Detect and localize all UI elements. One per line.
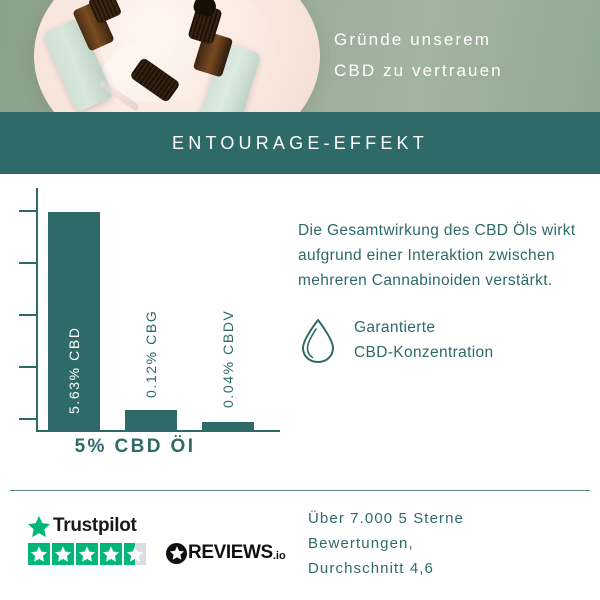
hero-headline-line-2: CBD zu vertrauen: [334, 55, 584, 86]
main-content: 5.63% CBD 0.12% CBG 0.04% CBDV 5% CBD ÖI…: [0, 174, 600, 480]
guarantee-line-2: CBD-Konzentration: [354, 340, 494, 365]
cannabinoid-bar-chart: 5.63% CBD 0.12% CBG 0.04% CBDV 5% CBD ÖI: [0, 174, 290, 480]
reviewsio-tld: .io: [273, 550, 286, 562]
bar-label-cbdv: 0.04% CBDV: [220, 310, 236, 408]
bar-cbg: [125, 410, 177, 430]
y-axis-tick: [19, 418, 37, 420]
reviews-summary-line-1: Über 7.000 5 Sterne: [308, 506, 588, 531]
y-axis-tick: [19, 210, 37, 212]
cbd-oil-bottles-photo: [0, 0, 330, 112]
bar-label-cbg: 0.12% CBG: [143, 310, 159, 398]
trustpilot-wordmark: Trustpilot: [28, 514, 148, 538]
droplet-icon: [298, 317, 338, 363]
footer-divider: [10, 490, 590, 491]
chart-x-axis-label: 5% CBD ÖI: [0, 436, 270, 458]
hero-headline: Gründe unserem CBD zu vertrauen: [334, 24, 584, 86]
reviewsio-widget[interactable]: REVIEWS .io: [166, 542, 286, 564]
guarantee-block: Garantierte CBD-Konzentration: [298, 315, 590, 365]
footer-section: Trustpilot: [0, 492, 600, 600]
y-axis-tick: [19, 262, 37, 264]
chart-bars: 5.63% CBD 0.12% CBG 0.04% CBDV: [38, 188, 280, 430]
y-axis-tick: [19, 314, 37, 316]
entourage-banner: ENTOURAGE-EFFEKT: [0, 112, 600, 174]
trustpilot-widget[interactable]: Trustpilot: [28, 514, 148, 565]
x-axis-line: [36, 430, 280, 432]
reviews-summary-text: Über 7.000 5 Sterne Bewertungen, Durchsc…: [308, 506, 588, 581]
trustpilot-star-rating: [28, 543, 148, 565]
hero-headline-line-1: Gründe unserem: [334, 24, 584, 55]
chart-plot-area: 5.63% CBD 0.12% CBG 0.04% CBDV: [12, 188, 280, 432]
guarantee-text: Garantierte CBD-Konzentration: [354, 315, 494, 365]
reviewsio-name: REVIEWS: [188, 542, 273, 564]
reviewsio-star-badge-icon: [166, 543, 187, 564]
rating-star-4: [100, 543, 122, 565]
rating-star-1: [28, 543, 50, 565]
info-column: Die Gesamtwirkung des CBD Öls wirkt aufg…: [298, 218, 590, 365]
entourage-description: Die Gesamtwirkung des CBD Öls wirkt aufg…: [298, 218, 590, 293]
trustpilot-name: Trustpilot: [53, 515, 137, 537]
reviews-summary-line-3: Durchschnitt 4,6: [308, 556, 588, 581]
cbd-infographic: Gründe unserem CBD zu vertrauen ENTOURAG…: [0, 0, 600, 600]
bar-label-cbd: 5.63% CBD: [66, 326, 82, 414]
banner-title: ENTOURAGE-EFFEKT: [172, 133, 428, 154]
guarantee-line-1: Garantierte: [354, 315, 494, 340]
trustpilot-star-icon: [28, 516, 50, 537]
rating-star-2: [52, 543, 74, 565]
hero-section: Gründe unserem CBD zu vertrauen: [0, 0, 600, 112]
bar-cbdv: [202, 422, 254, 430]
reviews-summary-line-2: Bewertungen,: [308, 531, 588, 556]
y-axis-tick: [19, 366, 37, 368]
rating-star-5-half: [124, 543, 146, 565]
rating-star-3: [76, 543, 98, 565]
